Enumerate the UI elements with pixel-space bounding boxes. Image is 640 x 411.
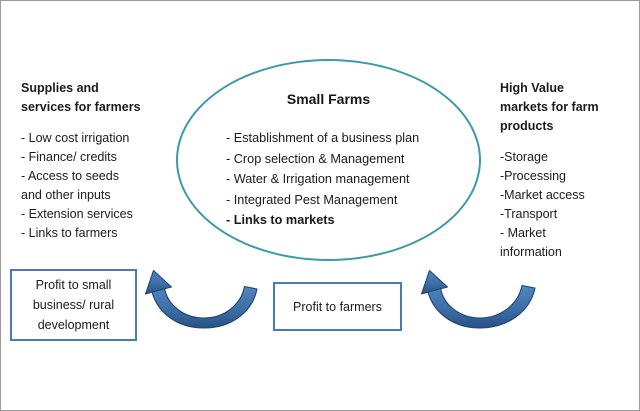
- left-block-list: - Low cost irrigation - Finance/ credits…: [21, 129, 171, 243]
- list-item: - Market information: [500, 224, 632, 262]
- left-text-block: Supplies and services for farmers - Low …: [21, 79, 171, 243]
- curved-arrow-right-icon: [419, 267, 543, 329]
- list-item: - Low cost irrigation: [21, 129, 171, 148]
- list-item: - Integrated Pest Management: [226, 190, 476, 211]
- profit-to-farmers-box: Profit to farmers: [273, 282, 402, 331]
- list-item: - Crop selection & Management: [226, 149, 476, 170]
- right-block-heading: High Value markets for farm products: [500, 79, 632, 136]
- list-item: -Storage: [500, 148, 632, 167]
- right-text-block: High Value markets for farm products -St…: [500, 79, 632, 262]
- left-block-heading: Supplies and services for farmers: [21, 79, 171, 117]
- curved-arrow-left-icon: [144, 267, 266, 329]
- list-item: - Access to seeds and other inputs: [21, 167, 171, 205]
- list-item: -Market access: [500, 186, 632, 205]
- list-item: - Extension services: [21, 205, 171, 224]
- ellipse-title: Small Farms: [176, 91, 481, 107]
- profit-to-small-business-box: Profit to small business/ rural developm…: [10, 269, 137, 341]
- ellipse-list: - Establishment of a business plan - Cro…: [226, 128, 476, 231]
- list-item: - Establishment of a business plan: [226, 128, 476, 149]
- list-item: -Transport: [500, 205, 632, 224]
- list-item: - Water & Irrigation management: [226, 169, 476, 190]
- list-item: - Links to markets: [226, 210, 476, 231]
- diagram-canvas: Supplies and services for farmers - Low …: [0, 0, 640, 411]
- list-item: -Processing: [500, 167, 632, 186]
- right-block-list: -Storage -Processing -Market access -Tra…: [500, 148, 632, 262]
- list-item: - Links to farmers: [21, 224, 171, 243]
- list-item: - Finance/ credits: [21, 148, 171, 167]
